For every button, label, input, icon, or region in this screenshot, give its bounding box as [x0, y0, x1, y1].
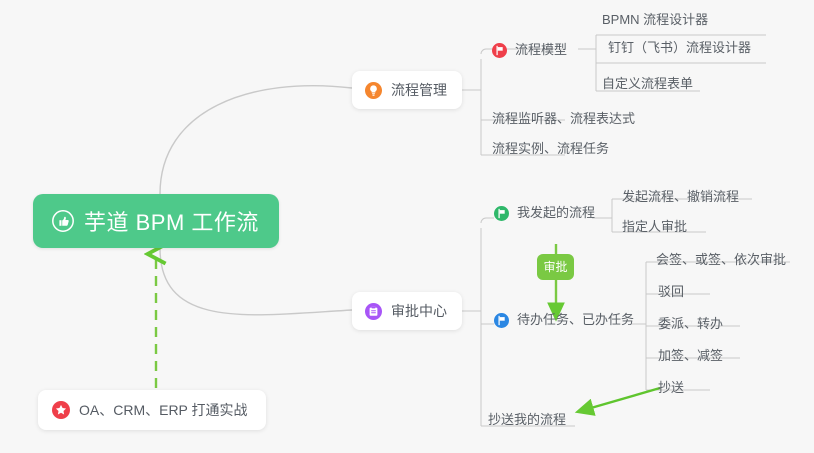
- node-bpmn-designer[interactable]: BPMN 流程设计器: [602, 12, 708, 33]
- wire-root-to-approval: [160, 248, 352, 315]
- clipboard-icon: [365, 303, 382, 320]
- node-my-started-label: 我发起的流程: [517, 205, 595, 221]
- node-process-listener[interactable]: 流程监听器、流程表达式: [492, 111, 635, 132]
- node-process-model[interactable]: 流程模型: [492, 42, 567, 63]
- node-delegate-transfer-label: 委派、转办: [658, 316, 723, 331]
- node-start-cancel-process-label: 发起流程、撤销流程: [622, 189, 739, 204]
- node-process-model-label: 流程模型: [515, 42, 567, 58]
- node-todo-done-tasks[interactable]: 待办任务、已办任务: [494, 312, 634, 333]
- node-custom-form[interactable]: 自定义流程表单: [602, 76, 693, 97]
- flag-green-icon: [494, 206, 509, 221]
- node-dingtalk-designer-label: 钉钉（飞书）流程设计器: [608, 40, 751, 55]
- wire-approval-spine: [476, 228, 481, 426]
- thumbs-up-icon: [52, 210, 74, 232]
- tag-badge-approval: 审批: [537, 254, 574, 280]
- node-process-instance-label: 流程实例、流程任务: [492, 141, 609, 156]
- node-process-instance[interactable]: 流程实例、流程任务: [492, 141, 609, 162]
- root-label: 芋道 BPM 工作流: [84, 205, 259, 237]
- node-countersign-label: 会签、或签、依次审批: [656, 252, 786, 267]
- flag-red-icon: [492, 43, 507, 58]
- node-add-remove-sign[interactable]: 加签、减签: [658, 348, 723, 369]
- branch-node-approval[interactable]: 审批中心: [352, 292, 462, 330]
- branch-label-process: 流程管理: [391, 80, 447, 100]
- callout-node-integration[interactable]: OA、CRM、ERP 打通实战: [38, 390, 266, 430]
- node-delegate-transfer[interactable]: 委派、转办: [658, 316, 723, 337]
- tag-badge-label: 审批: [543, 261, 567, 273]
- node-custom-form-label: 自定义流程表单: [602, 76, 693, 91]
- node-cc-to-me-label: 抄送我的流程: [488, 412, 566, 427]
- node-cc-label: 抄送: [658, 380, 684, 395]
- node-cc[interactable]: 抄送: [658, 380, 684, 401]
- node-reject[interactable]: 驳回: [658, 284, 684, 305]
- wire-approval-to-started: [481, 218, 494, 223]
- root-node[interactable]: 芋道 BPM 工作流: [33, 194, 279, 248]
- lightbulb-icon: [365, 82, 382, 99]
- arrow-cc-to-ccflow: [584, 388, 660, 410]
- node-dingtalk-designer[interactable]: 钉钉（飞书）流程设计器: [608, 40, 751, 61]
- mindmap-canvas: 芋道 BPM 工作流 流程管理 审批中心: [0, 0, 814, 453]
- node-todo-done-tasks-label: 待办任务、已办任务: [517, 312, 634, 328]
- flag-blue-icon: [494, 313, 509, 328]
- branch-label-approval: 审批中心: [391, 301, 447, 321]
- node-assignee-approval-label: 指定人审批: [622, 219, 687, 234]
- node-cc-to-me[interactable]: 抄送我的流程: [488, 412, 566, 433]
- node-bpmn-designer-label: BPMN 流程设计器: [602, 12, 708, 27]
- node-countersign[interactable]: 会签、或签、依次审批: [656, 252, 786, 273]
- star-icon: [52, 401, 70, 419]
- node-add-remove-sign-label: 加签、减签: [658, 348, 723, 363]
- node-start-cancel-process[interactable]: 发起流程、撤销流程: [622, 189, 739, 210]
- branch-node-process[interactable]: 流程管理: [352, 71, 462, 109]
- callout-label: OA、CRM、ERP 打通实战: [79, 400, 248, 420]
- wire-process-spine: [476, 59, 481, 155]
- node-my-started[interactable]: 我发起的流程: [494, 205, 595, 226]
- wire-root-to-process: [160, 86, 352, 194]
- node-assignee-approval[interactable]: 指定人审批: [622, 219, 687, 240]
- node-reject-label: 驳回: [658, 284, 684, 299]
- node-process-listener-label: 流程监听器、流程表达式: [492, 111, 635, 126]
